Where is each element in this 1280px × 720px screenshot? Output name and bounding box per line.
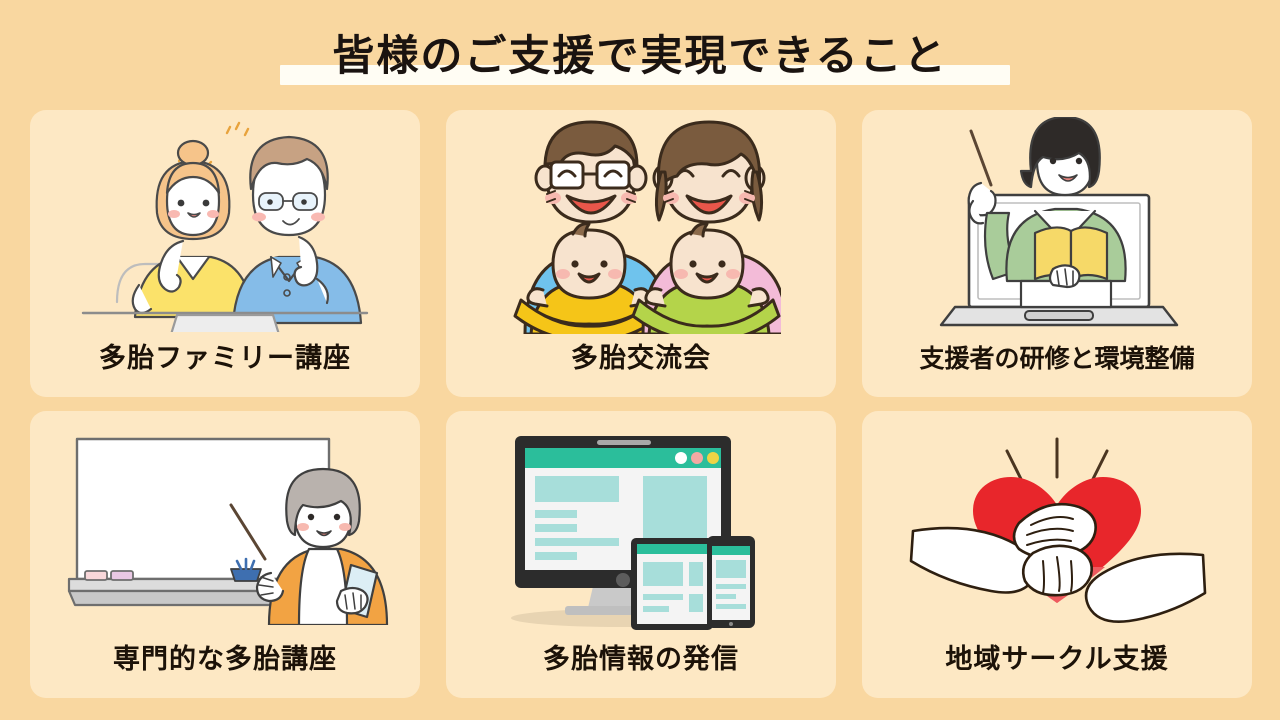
responsive-devices-website-icon bbox=[446, 411, 836, 639]
card-tatai-family-kouza[interactable]: 多胎ファミリー講座 bbox=[30, 110, 420, 397]
card-label: 多胎交流会 bbox=[571, 336, 711, 375]
cards-grid: 多胎ファミリー講座 bbox=[30, 110, 1252, 698]
parents-holding-twin-babies-icon bbox=[446, 110, 836, 338]
online-lecturer-laptop-icon bbox=[862, 110, 1252, 338]
card-shiensha-kenshu[interactable]: 支援者の研修と環境整備 bbox=[862, 110, 1252, 397]
card-label: 支援者の研修と環境整備 bbox=[919, 339, 1194, 375]
card-label: 地域サークル支援 bbox=[945, 637, 1168, 676]
slide-root: 皆様のご支援で実現できること bbox=[0, 0, 1280, 720]
page-title: 皆様のご支援で実現できること bbox=[0, 20, 1280, 92]
card-label: 専門的な多胎講座 bbox=[113, 637, 337, 676]
card-tatai-kouryukai[interactable]: 多胎交流会 bbox=[446, 110, 836, 397]
couple-with-laptop-icon bbox=[30, 110, 420, 338]
page-title-text: 皆様のご支援で実現できること bbox=[332, 35, 947, 77]
card-senmonteki-tatai-kouza[interactable]: 専門的な多胎講座 bbox=[30, 411, 420, 698]
card-tatai-jouhou-hasshin[interactable]: 多胎情報の発信 bbox=[446, 411, 836, 698]
card-label: 多胎ファミリー講座 bbox=[99, 336, 351, 375]
teacher-whiteboard-pointer-icon bbox=[30, 411, 420, 639]
card-label: 多胎情報の発信 bbox=[543, 637, 739, 676]
card-chiiki-circle-shien[interactable]: 地域サークル支援 bbox=[862, 411, 1252, 698]
hands-over-heart-icon bbox=[862, 411, 1252, 639]
